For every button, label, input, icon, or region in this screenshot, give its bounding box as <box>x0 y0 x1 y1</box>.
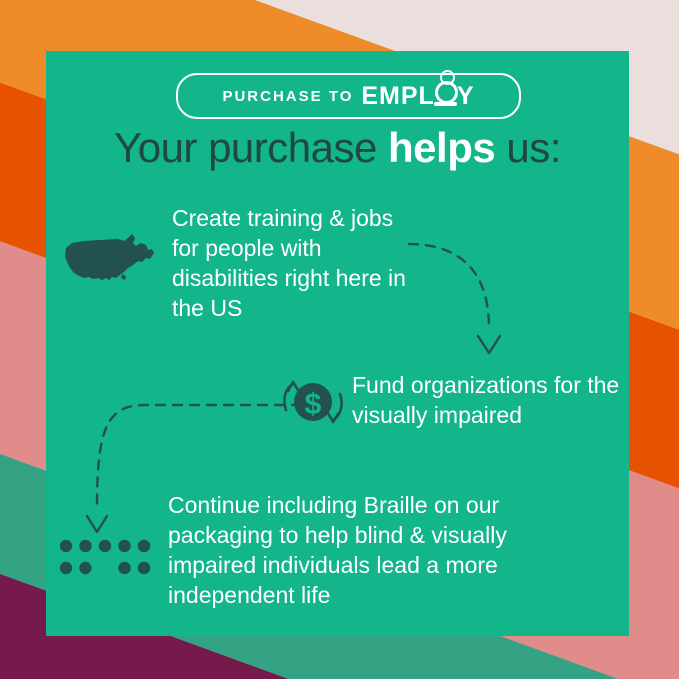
poster: PURCHASE TO EMPL Y Your purchase helps u… <box>0 0 679 679</box>
employ-wordmark: EMPL Y <box>361 82 474 111</box>
headline-after: us: <box>495 124 561 171</box>
badge-prefix-label: PURCHASE TO <box>222 88 353 105</box>
benefit-item-training-jobs: Create training & jobs for people with d… <box>172 203 422 323</box>
braille-dot <box>79 540 91 552</box>
benefit-text: Create training & jobs for people with d… <box>172 203 422 323</box>
brand-tail-text: Y <box>457 82 475 111</box>
benefit-text: Continue including Braille on our packag… <box>168 490 568 610</box>
person-base-bar-icon <box>434 102 457 106</box>
braille-dots-icon <box>59 538 151 578</box>
us-map-icon <box>62 232 158 288</box>
page-title: Your purchase helps us: <box>46 124 629 172</box>
braille-dot <box>138 540 150 552</box>
benefit-item-braille-packaging: Continue including Braille on our packag… <box>168 490 568 610</box>
benefit-item-fund-organizations: Fund organizations for the visually impa… <box>352 370 622 430</box>
braille-dot <box>138 562 150 574</box>
braille-dot <box>60 540 72 552</box>
badge-content: PURCHASE TO EMPL Y <box>210 82 486 111</box>
braille-dot <box>118 540 130 552</box>
headline-before: Your purchase <box>114 124 388 171</box>
person-body-circle-icon <box>435 81 458 104</box>
benefit-text: Fund organizations for the visually impa… <box>352 370 622 430</box>
braille-dot <box>118 562 130 574</box>
braille-dot <box>79 562 91 574</box>
dashed-curved-arrow-down-right-icon <box>405 232 525 367</box>
brand-lead-text: EMPL <box>361 82 434 111</box>
braille-dot <box>60 562 72 574</box>
dollar-symbol: $ <box>305 388 322 421</box>
braille-dot <box>99 540 111 552</box>
purchase-to-employ-badge: PURCHASE TO EMPL Y <box>176 73 521 119</box>
headline-emphasis: helps <box>388 124 495 171</box>
